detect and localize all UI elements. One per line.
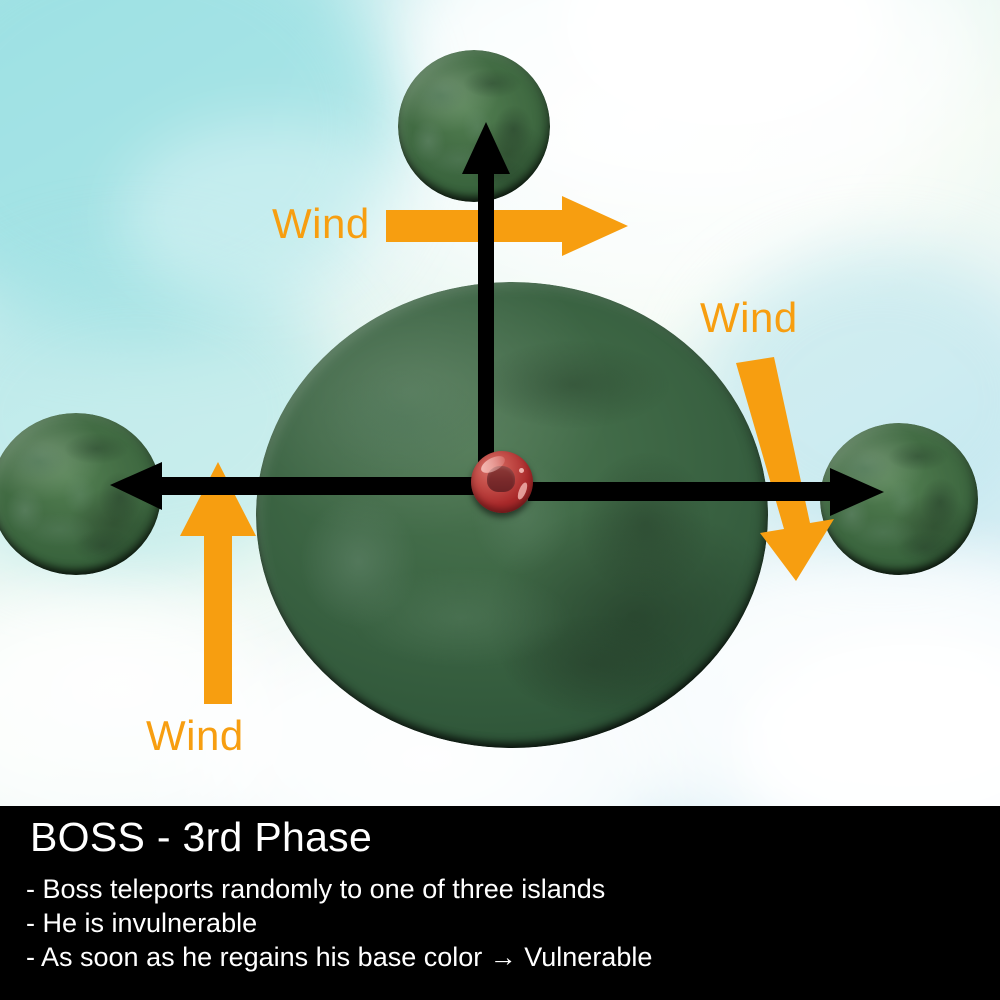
caption-bullet-1: - Boss teleports randomly to one of thre… <box>26 872 652 906</box>
wind-label-right: Wind <box>700 294 798 342</box>
wind-label-bottom: Wind <box>146 712 244 760</box>
boss-orb-glint <box>519 468 524 473</box>
caption-title: BOSS - 3rd Phase <box>30 814 372 861</box>
caption-bullet-3: - As soon as he regains his base color →… <box>26 940 652 974</box>
caption-bullet-2: - He is invulnerable <box>26 906 652 940</box>
teleport-arrow-north-icon <box>462 122 512 488</box>
boss-orb-specular <box>516 481 529 500</box>
scene-stage: Wind Wind Wind BOSS - 3rd Phase - Boss t… <box>0 0 1000 1000</box>
caption-bullet-list: - Boss teleports randomly to one of thre… <box>26 872 652 974</box>
boss-orb[interactable] <box>471 451 533 513</box>
wind-label-top: Wind <box>272 200 370 248</box>
caption-panel: BOSS - 3rd Phase - Boss teleports random… <box>0 806 1000 1000</box>
teleport-arrow-west-icon <box>110 462 478 510</box>
teleport-arrow-east-icon <box>528 468 884 516</box>
cloud-mid-left <box>120 120 420 310</box>
